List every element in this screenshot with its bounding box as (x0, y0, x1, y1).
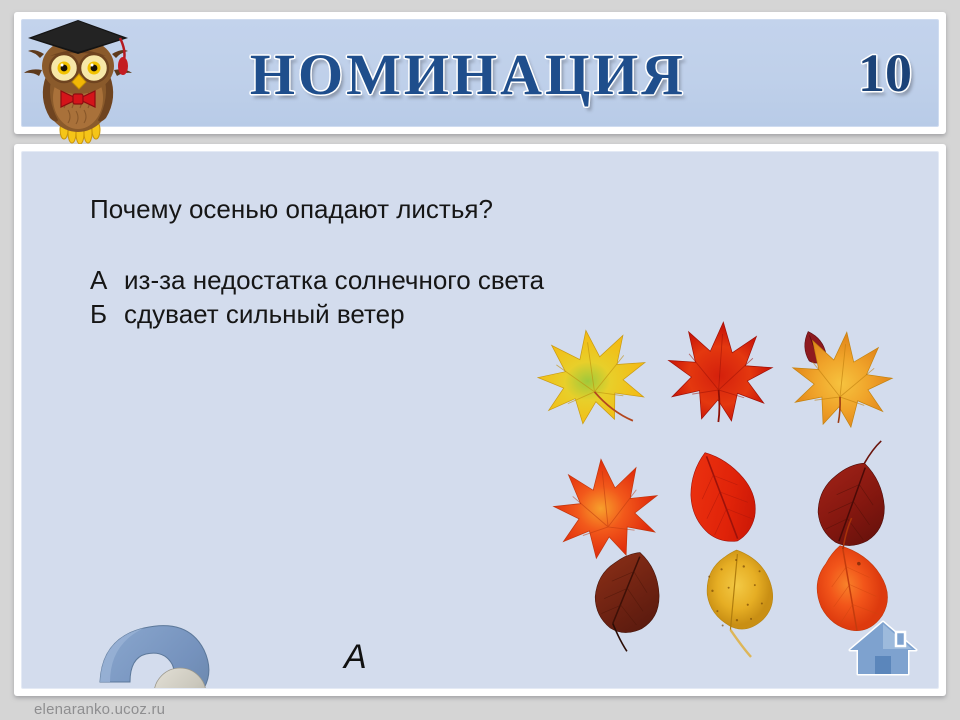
body-frame: Почему осенью опадают листья? А из-за не… (14, 144, 946, 696)
page-title: НОМИНАЦИЯ (22, 20, 939, 127)
quiz-slide: НОМИНАЦИЯ 10 (0, 0, 960, 720)
header-frame: НОМИНАЦИЯ 10 (14, 12, 946, 134)
question-block: Почему осенью опадают листья? А из-за не… (90, 194, 730, 332)
brown-maroon-leaf (581, 543, 672, 656)
option-label-a: из-за недостатка солнечного света (124, 263, 544, 298)
option-row-a[interactable]: А из-за недостатка солнечного света (90, 263, 730, 298)
body-panel: Почему осенью опадают листья? А из-за не… (21, 151, 939, 689)
option-key-b: Б (90, 297, 124, 332)
home-icon[interactable] (846, 618, 920, 678)
options-list: А из-за недостатка солнечного света Б сд… (90, 263, 730, 332)
red-maple-leaf (664, 318, 775, 425)
answer-text: А (344, 638, 367, 677)
question-text: Почему осенью опадают листья? (90, 194, 730, 225)
question-mark-thinker-icon (84, 614, 260, 689)
orange-maple-leaf (787, 327, 896, 431)
header-panel: НОМИНАЦИЯ 10 (21, 19, 939, 127)
option-row-b[interactable]: Б сдувает сильный ветер (90, 297, 730, 332)
owl-graduate-icon (16, 14, 140, 144)
option-label-b: сдувает сильный ветер (124, 297, 405, 332)
red-serrated-leaf (675, 442, 767, 552)
option-key-a: А (90, 263, 124, 298)
orange-red-maple-leaf (549, 454, 663, 562)
yellow-maple-leaf (532, 323, 652, 433)
golden-speckled-leaf (704, 549, 775, 658)
dark-red-birch-leaf (810, 429, 904, 554)
watermark: elenaranko.ucoz.ru (34, 701, 165, 718)
score-badge: 10 (858, 42, 912, 104)
